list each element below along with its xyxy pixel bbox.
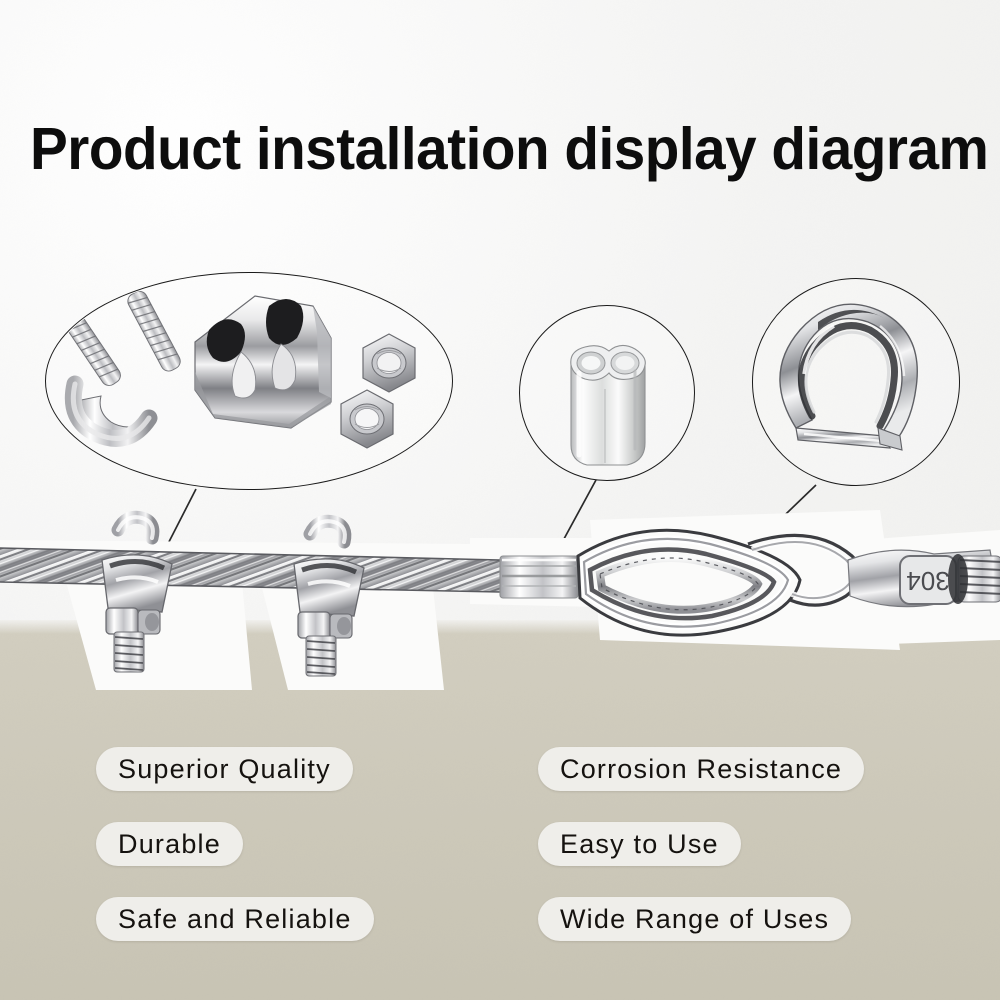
threaded-rod [948, 554, 1000, 604]
feature-pill-durable: Durable [96, 822, 243, 866]
feature-pill-corrosion-resistance: Corrosion Resistance [538, 747, 864, 791]
aluminum-crimp-sleeve-installed [500, 556, 578, 598]
feature-pill-wide-range-of-uses: Wide Range of Uses [538, 897, 851, 941]
u-bolt [56, 289, 184, 444]
callout-wire-rope-clip [45, 272, 453, 490]
feature-label: Wide Range of Uses [560, 904, 829, 935]
turnbuckle: 304 [848, 550, 1000, 607]
page-title: Product installation display diagram [30, 118, 942, 180]
feature-label: Safe and Reliable [118, 904, 352, 935]
installed-assembly-illustration: 304 [0, 500, 1000, 720]
callout-wire-rope-thimble [752, 278, 960, 486]
hex-nut-lower [341, 390, 393, 448]
feature-label: Superior Quality [118, 754, 331, 785]
callout-aluminum-sleeve [519, 305, 695, 481]
feature-label: Easy to Use [560, 829, 719, 860]
feature-label: Corrosion Resistance [560, 754, 842, 785]
hex-nut-upper [363, 334, 415, 392]
aluminum-sleeve-illustration [519, 305, 695, 481]
product-infographic-poster: Product installation display diagram [0, 0, 1000, 1000]
svg-text:304: 304 [906, 566, 949, 596]
feature-label: Durable [118, 829, 221, 860]
wire-rope-clip-illustration [45, 272, 453, 490]
wire-rope-thimble-illustration [752, 278, 960, 486]
feature-pill-easy-to-use: Easy to Use [538, 822, 741, 866]
feature-pill-safe-and-reliable: Safe and Reliable [96, 897, 374, 941]
feature-pill-superior-quality: Superior Quality [96, 747, 353, 791]
saddle-clamp [195, 296, 331, 428]
